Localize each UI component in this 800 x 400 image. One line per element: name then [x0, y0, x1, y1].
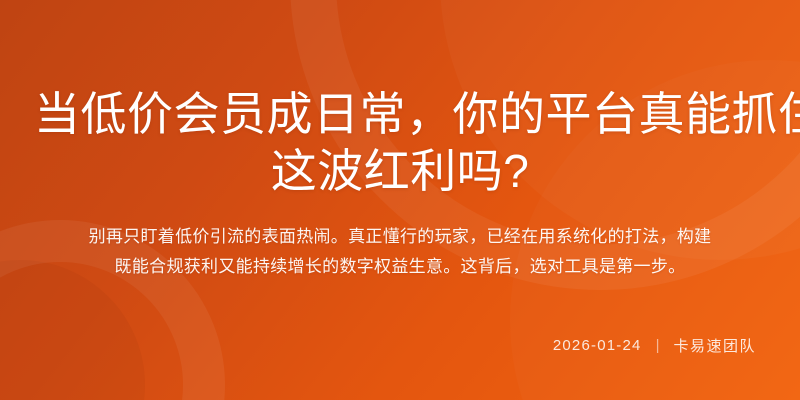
- banner-content: 当低价会员成日常，你的平台真能抓住 这波红利吗? 别再只盯着低价引流的表面热闹。…: [0, 0, 800, 400]
- promo-banner: 当低价会员成日常，你的平台真能抓住 这波红利吗? 别再只盯着低价引流的表面热闹。…: [0, 0, 800, 400]
- headline-line-2: 这波红利吗?: [34, 143, 766, 200]
- subtitle: 别再只盯着低价引流的表面热闹。真正懂行的玩家，已经在用系统化的打法，构建 既能合…: [34, 200, 766, 282]
- subtitle-line-2: 既能合规获利又能持续增长的数字权益生意。这背后，选对工具是第一步。: [34, 252, 766, 282]
- headline-line-1: 当低价会员成日常，你的平台真能抓住: [34, 86, 766, 143]
- headline: 当低价会员成日常，你的平台真能抓住 这波红利吗?: [34, 0, 766, 200]
- subtitle-line-1: 别再只盯着低价引流的表面热闹。真正懂行的玩家，已经在用系统化的打法，构建: [34, 222, 766, 252]
